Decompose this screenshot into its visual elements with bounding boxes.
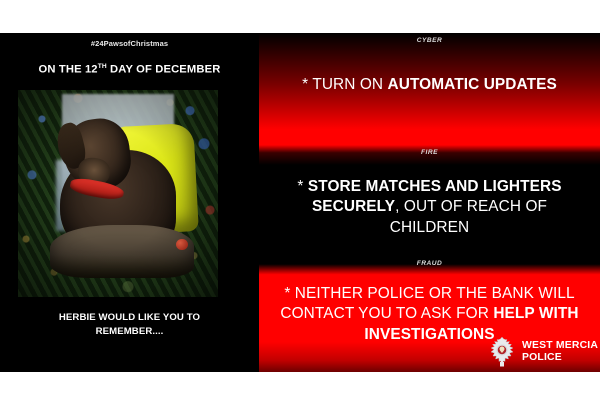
dog-blanket — [50, 225, 194, 279]
police-crest-badge-icon — [487, 336, 517, 368]
cyber-text-bold-1: AUTOMATIC UPDATES — [388, 76, 557, 93]
section-cyber: CYBER * TURN ON AUTOMATIC UPDATES — [259, 33, 600, 145]
section-fraud: FRAUD * NEITHER POLICE OR THE BANK WILL … — [259, 256, 600, 372]
section-label-fire: FIRE — [259, 149, 600, 156]
wmp-line-1: WEST MERCIA — [522, 340, 598, 352]
section-body-cyber: * TURN ON AUTOMATIC UPDATES — [273, 75, 586, 95]
right-panel: CYBER * TURN ON AUTOMATIC UPDATES FIRE *… — [259, 33, 600, 372]
west-mercia-police-logo: WEST MERCIA POLICE — [487, 336, 598, 368]
remember-line-1: HERBIE WOULD LIKE YOU TO — [59, 312, 200, 323]
remember-line-2: REMEMBER.... — [96, 326, 164, 337]
section-label-cyber: CYBER — [259, 37, 600, 44]
headline-rest: DAY OF DECEMBER — [107, 64, 221, 76]
west-mercia-police-logo-text: WEST MERCIA POLICE — [522, 340, 598, 363]
section-fire: FIRE * STORE MATCHES AND LIGHTERS SECURE… — [259, 145, 600, 256]
fire-text-plain-2: , OUT OF REACH OF CHILDREN — [390, 198, 547, 235]
poster-stage: #24PawsofChristmas ON THE 12TH DAY OF DE… — [0, 33, 600, 372]
wmp-line-2: POLICE — [522, 352, 598, 364]
section-label-fraud: FRAUD — [259, 260, 600, 267]
left-panel: #24PawsofChristmas ON THE 12TH DAY OF DE… — [0, 33, 259, 372]
headline-main: ON THE 12 — [39, 64, 98, 76]
headline-ordinal-suffix: TH — [98, 63, 107, 70]
remember-caption: HERBIE WOULD LIKE YOU TO REMEMBER.... — [24, 311, 235, 339]
section-body-fire: * STORE MATCHES AND LIGHTERS SECURELY, O… — [273, 177, 586, 238]
fire-text-plain-1: * — [297, 178, 307, 195]
cyber-text-plain-1: * TURN ON — [302, 76, 387, 93]
page-title: ON THE 12TH DAY OF DECEMBER — [0, 63, 259, 76]
dog-photo — [18, 90, 218, 297]
campaign-hashtag: #24PawsofChristmas — [0, 39, 259, 48]
